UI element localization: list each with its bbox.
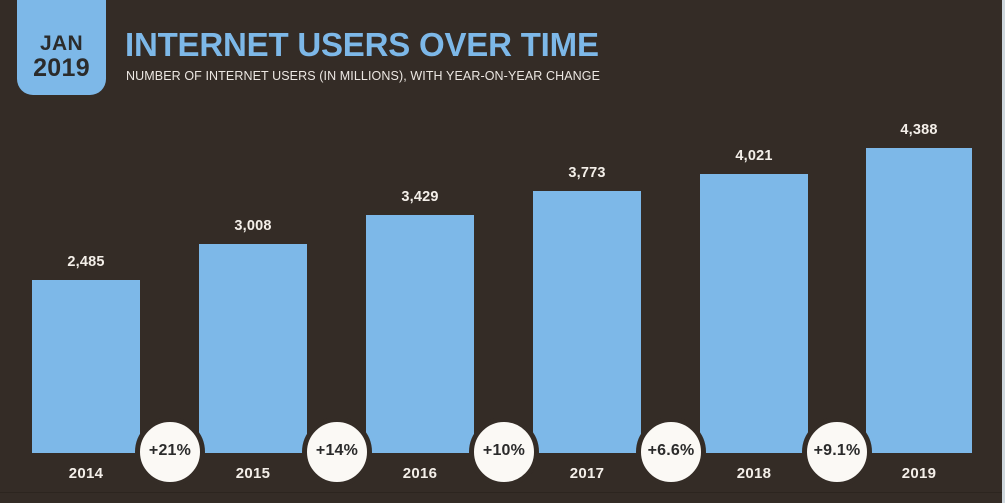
growth-bubble-2017-2018: +6.6% [636,417,706,487]
growth-value: +10% [483,442,525,460]
growth-bubble-2018-2019: +9.1% [802,417,872,487]
bar-value-label-2016: 3,429 [366,189,474,205]
bar-2014 [32,280,140,453]
bar-2015 [199,244,307,453]
category-label-2017: 2017 [533,465,641,482]
bar-2017 [533,191,641,453]
bar-value-label-2018: 4,021 [700,148,808,164]
category-label-2014: 2014 [32,465,140,482]
bar-value-label-2019: 4,388 [866,122,972,138]
slide-canvas: JAN 2019 INTERNET USERS OVER TIME NUMBER… [0,0,1005,503]
growth-value: +6.6% [648,442,695,460]
bar-value-label-2017: 3,773 [533,165,641,181]
growth-value: +21% [149,442,191,460]
category-label-2018: 2018 [700,465,808,482]
growth-bubble-2016-2017: +10% [469,417,539,487]
growth-bubble-2015-2016: +14% [302,417,372,487]
bar-2018 [700,174,808,453]
bar-2019 [866,148,972,453]
bar-value-label-2015: 3,008 [199,218,307,234]
bar-2016 [366,215,474,453]
baseline-rule [0,492,1005,493]
category-label-2016: 2016 [366,465,474,482]
growth-value: +14% [316,442,358,460]
category-label-2015: 2015 [199,465,307,482]
growth-value: +9.1% [814,442,861,460]
bar-chart-plot: 2,48520143,00820153,42920163,77320174,02… [0,0,1005,503]
growth-bubble-2014-2015: +21% [135,417,205,487]
bar-value-label-2014: 2,485 [32,254,140,270]
category-label-2019: 2019 [866,465,972,482]
